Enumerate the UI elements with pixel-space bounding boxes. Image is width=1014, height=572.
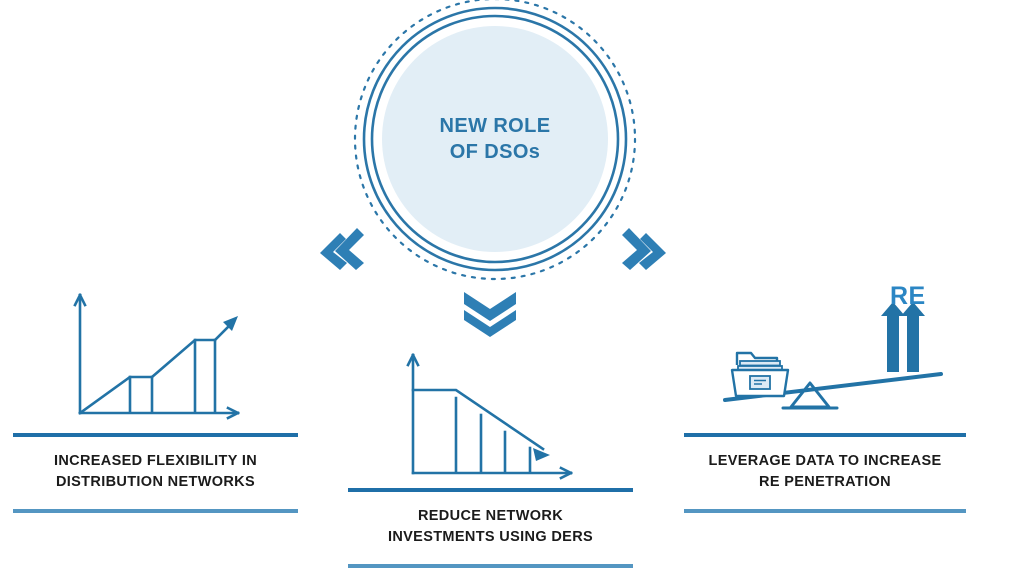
declining-bar-chart-icon <box>393 345 583 490</box>
chevron-down-icon <box>458 286 522 340</box>
declining-chart-svg <box>393 345 583 485</box>
card-right-text: LEVERAGE DATA TO INCREASE RE PENETRATION <box>684 437 966 509</box>
card-right-line1: LEVERAGE DATA TO INCREASE <box>688 451 962 472</box>
card-increased-flexibility: INCREASED FLEXIBILITY IN DISTRIBUTION NE… <box>13 433 298 513</box>
rising-step-chart-icon <box>60 285 250 430</box>
data-folder-icon <box>732 353 788 396</box>
card-right-line2: RE PENETRATION <box>688 472 962 493</box>
card-left-line1: INCREASED FLEXIBILITY IN <box>17 451 294 472</box>
card-rule-bottom <box>348 564 633 568</box>
hub-label: NEW ROLE OF DSOs <box>352 0 638 282</box>
card-mid-text: REDUCE NETWORK INVESTMENTS USING DERS <box>348 492 633 564</box>
chevron-left <box>312 222 378 283</box>
chevron-down <box>458 286 522 345</box>
card-mid-line2: INVESTMENTS USING DERS <box>352 527 629 548</box>
card-leverage-data: LEVERAGE DATA TO INCREASE RE PENETRATION <box>684 433 966 513</box>
card-rule-bottom <box>13 509 298 513</box>
diagram-canvas: NEW ROLE OF DSOs <box>0 0 1014 572</box>
hub-label-line1: NEW ROLE <box>440 113 551 139</box>
card-mid-line1: REDUCE NETWORK <box>352 506 629 527</box>
card-left-text: INCREASED FLEXIBILITY IN DISTRIBUTION NE… <box>13 437 298 509</box>
chevron-left-icon <box>312 222 378 278</box>
declining-arrow-head <box>533 448 550 461</box>
re-label: RE <box>890 282 926 311</box>
seesaw-data-lever-icon: RE <box>715 282 955 422</box>
chevron-right <box>608 222 674 283</box>
card-rule-bottom <box>684 509 966 513</box>
hub-circle: NEW ROLE OF DSOs <box>352 0 638 282</box>
double-up-arrow-icon <box>881 302 925 372</box>
chevron-right-icon <box>608 222 674 278</box>
card-reduce-network-investments: REDUCE NETWORK INVESTMENTS USING DERS <box>348 488 633 568</box>
hub-label-line2: OF DSOs <box>450 139 541 165</box>
card-left-line2: DISTRIBUTION NETWORKS <box>17 472 294 493</box>
rising-chart-svg <box>60 285 250 425</box>
